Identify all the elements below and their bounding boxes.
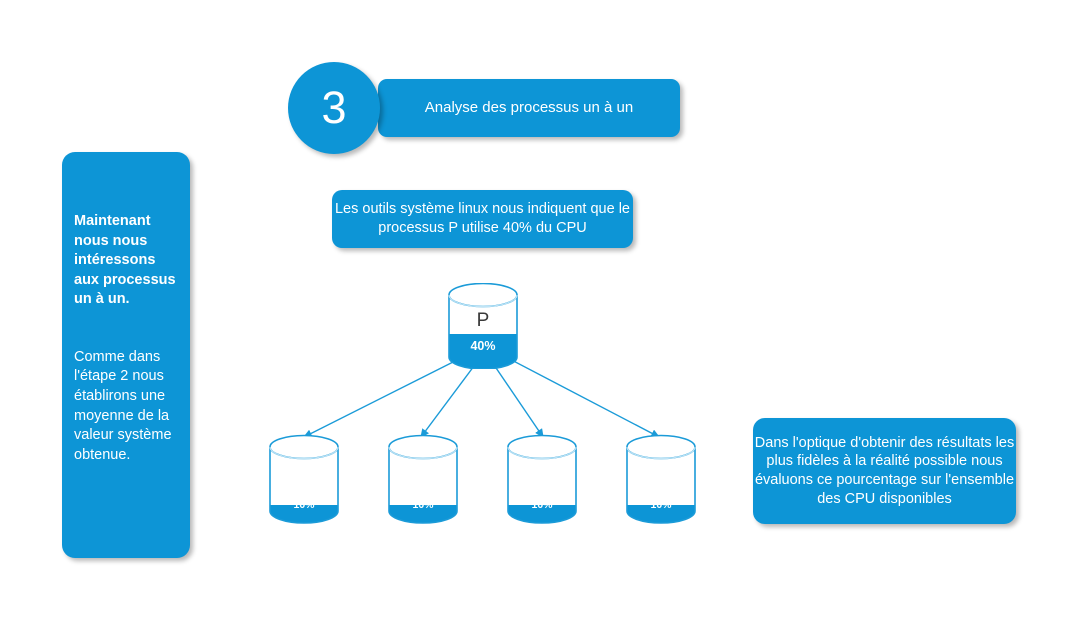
- step-title-bar: Analyse des processus un à un: [378, 79, 680, 137]
- cylinder-cpu-2-shape: [387, 433, 459, 525]
- note-cpu-usage-label: Les outils système linux nous indiquent …: [332, 200, 633, 237]
- cylinder-cpu-4-shape: [625, 433, 697, 525]
- note-cpu-distribution: Dans l'optique d'obtenir des résultats l…: [753, 418, 1016, 524]
- arrow-to-cylinder-3: [492, 362, 543, 437]
- sidebar-description-panel: Maintenant nous nous intéressons aux pro…: [62, 152, 190, 558]
- note-cpu-distribution-label: Dans l'optique d'obtenir des résultats l…: [753, 434, 1016, 508]
- arrow-to-cylinder-4: [502, 355, 659, 437]
- cylinder-cpu-3-shape: [506, 433, 578, 525]
- cylinder-cpu-1: 10%: [268, 433, 340, 525]
- sidebar-body-text: Comme dans l'étape 2 nous établirons une…: [74, 348, 178, 465]
- step-number-badge: 3: [288, 62, 380, 154]
- note-cpu-usage: Les outils système linux nous indiquent …: [332, 190, 633, 248]
- step-number-label: 3: [321, 79, 346, 137]
- sidebar-lead-text: Maintenant nous nous intéressons aux pro…: [74, 212, 178, 310]
- arrow-to-cylinder-2: [421, 362, 477, 437]
- cylinder-cpu-1-shape: [268, 433, 340, 525]
- arrow-to-cylinder-1: [304, 355, 467, 437]
- cylinder-process-p: P 40%: [447, 283, 519, 369]
- step-title-label: Analyse des processus un à un: [425, 98, 633, 117]
- cylinder-process-p-shape: [447, 283, 519, 369]
- cylinder-cpu-2: 10%: [387, 433, 459, 525]
- cylinder-cpu-3: 10%: [506, 433, 578, 525]
- cylinder-cpu-4: 10%: [625, 433, 697, 525]
